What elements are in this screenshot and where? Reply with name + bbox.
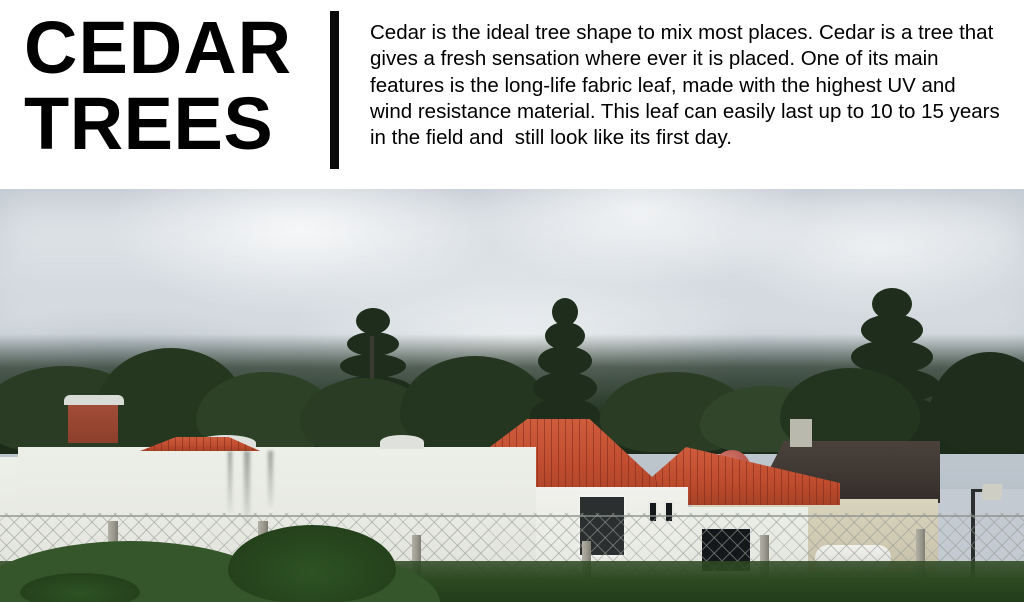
- page-title: CEDAR TREES: [24, 10, 324, 170]
- fence-top-rail: [0, 515, 1024, 517]
- header-band: CEDAR TREES Cedar is the ideal tree shap…: [0, 0, 1024, 189]
- wall-vent-dome-right: [380, 435, 424, 449]
- poster-page: CEDAR TREES Cedar is the ideal tree shap…: [0, 0, 1024, 602]
- cloud-band-upper: [0, 197, 1024, 267]
- brick-chimney-cap: [64, 395, 124, 405]
- title-divider-rule: [330, 11, 339, 169]
- wall-streak-1: [228, 451, 232, 513]
- description-paragraph: Cedar is the ideal tree shape to mix mos…: [370, 20, 1002, 151]
- outbuilding-chimney: [790, 419, 812, 447]
- wall-streak-3: [268, 451, 273, 507]
- title-line-secondary: TREES: [24, 86, 324, 162]
- brick-chimney: [68, 401, 118, 443]
- street-lamp-head: [981, 484, 1003, 500]
- title-line-primary: CEDAR: [24, 10, 324, 86]
- photograph: [0, 189, 1024, 602]
